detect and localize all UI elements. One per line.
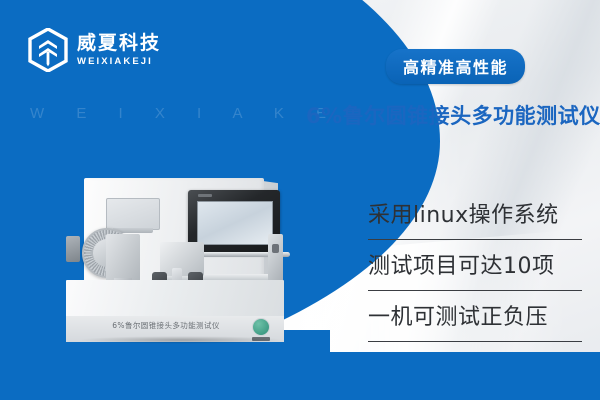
feature-label: 测试项目可达10项	[368, 247, 600, 287]
hmi-display	[197, 201, 273, 245]
feature-label: 一机可测试正负压	[368, 298, 600, 338]
machine-panel-label: 6%鲁尔圆锥接头多功能测试仪	[66, 320, 266, 331]
product-image: 6%鲁尔圆锥接头多功能测试仪	[62, 168, 302, 368]
brand-name-en: WEIXIAKEJI	[77, 57, 161, 67]
dial-support-arm	[66, 236, 80, 262]
certification-seal-icon	[252, 318, 270, 338]
list-item: 采用linux操作系统	[368, 196, 600, 247]
brand-name-cn: 威夏科技	[77, 34, 161, 53]
feature-divider	[368, 341, 582, 343]
machine-access-plate	[106, 198, 160, 230]
brand-logo-text: 威夏科技 WEIXIAKEJI	[77, 34, 161, 67]
hmi-brand-strip	[198, 194, 212, 197]
feature-label: 采用linux操作系统	[368, 196, 600, 236]
promo-banner: 6%鲁尔圆锥接头多功能测试仪 W E I X I A K E 威夏科技 WEIX…	[0, 0, 600, 400]
clamp-hole	[272, 244, 279, 253]
background-watermark: W E I X I A K E	[30, 105, 340, 122]
hexagon-emblem-icon	[28, 28, 68, 72]
cert-seal-circle	[252, 318, 270, 336]
brand-logo: 威夏科技 WEIXIAKEJI	[28, 28, 161, 72]
list-item: 测试项目可达10项	[368, 247, 600, 298]
clamp-block-left	[106, 234, 140, 282]
feature-list: 采用linux操作系统 测试项目可达10项 一机可测试正负压	[368, 196, 600, 349]
feature-divider	[368, 290, 582, 292]
specimen-fixture	[160, 242, 204, 276]
list-item: 一机可测试正负压	[368, 298, 600, 349]
machine-shadow	[78, 336, 284, 344]
feature-divider	[368, 239, 582, 241]
page-title: 6%鲁尔圆锥接头多功能测试仪	[306, 100, 594, 130]
status-badge: 高精准高性能	[386, 49, 525, 84]
